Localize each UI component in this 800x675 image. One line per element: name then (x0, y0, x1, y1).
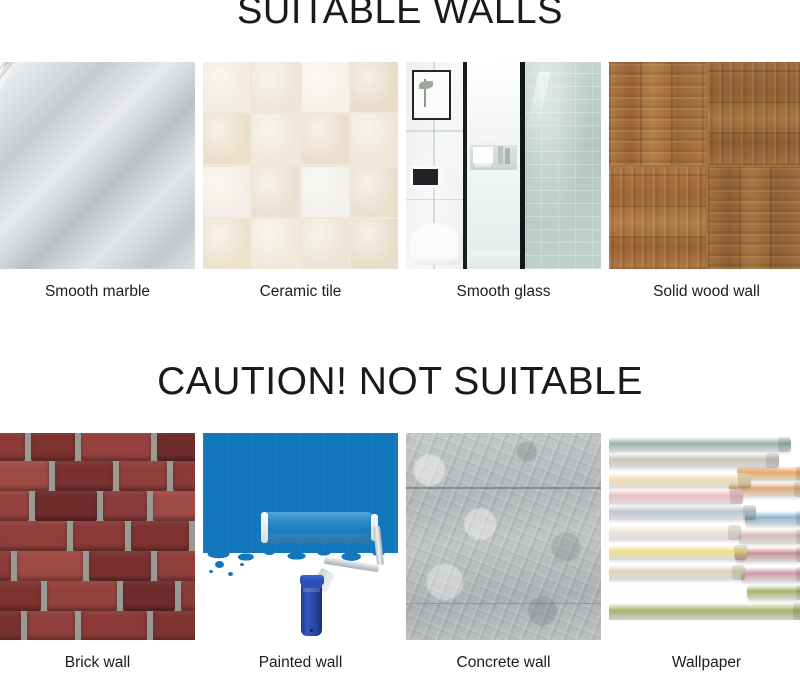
brick (157, 433, 195, 461)
suitable-walls-row: Smooth marble Ceramic tile (0, 62, 800, 301)
tile-cell (203, 219, 250, 269)
caption-concrete-wall: Concrete wall (406, 654, 601, 672)
brick-course (0, 459, 195, 493)
framed-botanical-art (412, 70, 451, 120)
tile-cell (203, 114, 250, 164)
brick (0, 581, 41, 611)
parquet-block-vertical (708, 167, 800, 270)
brick (181, 581, 195, 611)
caption-ceramic-tile: Ceramic tile (203, 283, 398, 301)
caption-smooth-glass: Smooth glass (406, 283, 601, 301)
caution-item-brick-wall: Brick wall (0, 433, 195, 672)
tile-cell (351, 114, 398, 164)
suitable-item-smooth-glass: Smooth glass (406, 62, 601, 301)
bluegrey-roll (609, 505, 756, 520)
cream-roll (609, 473, 751, 488)
caution-item-concrete-wall: Concrete wall (406, 433, 601, 672)
wallpaper-rolls-stack-thumbnail (609, 433, 800, 640)
roller-end-cap (261, 512, 269, 543)
parquet-block-horizontal (708, 62, 800, 165)
tile-cell (302, 219, 349, 269)
brick (0, 461, 49, 491)
brick (0, 611, 21, 640)
brick (0, 491, 29, 521)
caption-brick-wall: Brick wall (0, 654, 195, 672)
parquet-block-horizontal (609, 167, 706, 270)
suitable-item-ceramic-tile: Ceramic tile (203, 62, 398, 301)
brick (103, 491, 147, 521)
toilet-flush-plate (410, 166, 441, 189)
caution-item-painted-wall: Painted wall (203, 433, 398, 672)
caution-not-suitable-heading: CAUTION! NOT SUITABLE (0, 360, 800, 404)
tile-cell (351, 219, 398, 269)
ceramic-tile-texture-thumbnail (203, 62, 398, 269)
not-suitable-row: Brick wall Painted wall (0, 433, 800, 672)
white-textured-roll (609, 525, 741, 540)
brick (81, 433, 151, 461)
tile-cell (302, 114, 349, 164)
paint-splatter (228, 572, 233, 576)
brick (173, 461, 195, 491)
toiletry-bottle (498, 146, 503, 165)
teal-roll (609, 437, 791, 452)
tile-cell (252, 167, 299, 217)
tile-cell (252, 62, 299, 112)
paint-splatter (240, 563, 244, 566)
yellow-roll (609, 545, 747, 560)
brick-texture-thumbnail (0, 433, 195, 640)
brick (47, 581, 117, 611)
brick (55, 461, 113, 491)
bathroom-wall-cabinet (464, 62, 521, 143)
concrete-texture-thumbnail (406, 433, 601, 640)
paint-splatter (209, 570, 213, 573)
brick-course (0, 519, 195, 553)
caption-wallpaper: Wallpaper (609, 654, 800, 672)
bathroom-glass-shower-thumbnail (406, 62, 601, 269)
roller-handle-grip (301, 580, 321, 636)
caption-smooth-marble: Smooth marble (0, 283, 195, 301)
brick (153, 491, 195, 521)
shower-glass-panel (524, 62, 601, 269)
brick (123, 581, 175, 611)
brick-course (0, 609, 195, 640)
brick (0, 551, 11, 581)
parquet-wood-texture-thumbnail (609, 62, 800, 269)
paint-roller-illustration-thumbnail (203, 433, 398, 640)
paint-edge-splatter (203, 545, 398, 566)
brick (131, 521, 189, 551)
brick (119, 461, 167, 491)
brick (81, 611, 147, 640)
brick-course (0, 549, 195, 583)
pink-roll (609, 489, 743, 504)
suitable-item-smooth-marble: Smooth marble (0, 62, 195, 301)
brick (0, 433, 25, 461)
brick (17, 551, 83, 581)
brick (35, 491, 97, 521)
suitable-walls-heading: SUITABLE WALLS (0, 0, 800, 33)
shower-frame-post (520, 62, 525, 269)
green-roll (747, 585, 800, 600)
parquet-block-vertical (609, 62, 706, 165)
tile-cell (203, 62, 250, 112)
paint-splatter (215, 561, 224, 568)
paint-roller-sleeve (263, 512, 372, 543)
dusty-rose-roll (739, 529, 800, 544)
wall-hung-toilet (410, 223, 465, 264)
tile-cell (302, 167, 349, 217)
mauve-roll (741, 567, 800, 582)
brick (157, 551, 195, 581)
caution-item-wallpaper: Wallpaper (609, 433, 800, 672)
brick (73, 521, 125, 551)
brick (31, 433, 75, 461)
tile-cell (351, 167, 398, 217)
toiletry-bottle (505, 148, 510, 165)
caption-solid-wood-wall: Solid wood wall (609, 283, 800, 301)
grey-roll (609, 453, 779, 468)
infographic-page: SUITABLE WALLS Smooth marble Ceramic til… (0, 0, 800, 675)
green-base-roll (609, 603, 800, 620)
brick (0, 521, 67, 551)
brick-course (0, 489, 195, 523)
marble-texture-thumbnail (0, 62, 195, 269)
brick (153, 611, 195, 640)
tile-cell (302, 62, 349, 112)
brick (89, 551, 151, 581)
brick-course (0, 579, 195, 613)
tile-cell (351, 62, 398, 112)
tile-cell (203, 167, 250, 217)
tile-cell (252, 114, 299, 164)
caption-painted-wall: Painted wall (203, 654, 398, 672)
tile-cell (252, 219, 299, 269)
beige-textured-roll (609, 565, 745, 580)
brick (27, 611, 75, 640)
folded-towels (473, 147, 493, 164)
suitable-item-solid-wood-wall: Solid wood wall (609, 62, 800, 301)
shower-frame-post (463, 62, 467, 269)
